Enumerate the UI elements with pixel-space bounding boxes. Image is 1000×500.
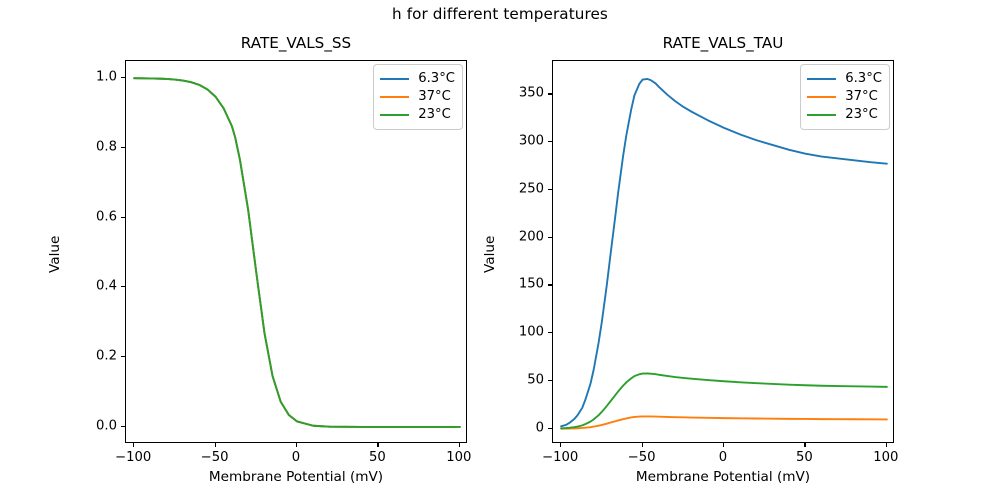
series-line [561, 79, 887, 426]
axes-left-ylabel: Value [47, 236, 63, 273]
legend-color-swatch [380, 96, 409, 98]
y-tick-label: 0.8 [96, 139, 117, 154]
y-tick-mark [121, 286, 125, 287]
y-tick-label: 350 [519, 86, 544, 101]
y-tick-label: 0.0 [96, 418, 117, 433]
axes-right-legend[interactable]: 6.3°C37°C23°C [800, 64, 890, 130]
y-tick-mark [548, 141, 552, 142]
x-tick-label: 100 [873, 450, 898, 465]
axes-left-xlabel: Membrane Potential (mV) [125, 469, 467, 485]
axes-left-title: RATE_VALS_SS [125, 34, 467, 52]
y-tick-label: 100 [519, 325, 544, 340]
y-tick-label: 200 [519, 229, 544, 244]
y-tick-label: 250 [519, 181, 544, 196]
series-line [561, 416, 887, 428]
axes-left-legend[interactable]: 6.3°C37°C23°C [373, 64, 463, 130]
legend-entry[interactable]: 23°C [380, 106, 455, 124]
x-tick-label: −50 [201, 450, 229, 465]
y-tick-label: 150 [519, 277, 544, 292]
x-tick-label: 100 [446, 450, 471, 465]
legend-color-swatch [380, 114, 409, 116]
axes-right-xlabel: Membrane Potential (mV) [552, 469, 894, 485]
x-tick-mark [723, 443, 724, 447]
x-tick-label: −50 [628, 450, 656, 465]
legend-label: 37°C [418, 90, 451, 104]
x-tick-label: 50 [369, 450, 386, 465]
x-tick-mark [215, 443, 216, 447]
legend-label: 6.3°C [418, 72, 455, 86]
y-tick-mark [548, 189, 552, 190]
x-tick-mark [459, 443, 460, 447]
x-tick-label: 0 [292, 450, 300, 465]
axes-rate-vals-ss: RATE_VALS_SS −100−500501000.00.20.40.60.… [125, 60, 467, 443]
legend-label: 37°C [845, 90, 878, 104]
x-tick-mark [133, 443, 134, 447]
matplotlib-figure: h for different temperatures RATE_VALS_S… [0, 0, 1000, 500]
y-tick-mark [548, 93, 552, 94]
legend-color-swatch [807, 78, 836, 80]
y-tick-mark [121, 217, 125, 218]
legend-label: 23°C [418, 108, 451, 122]
series-line [134, 78, 460, 427]
x-tick-label: 50 [796, 450, 813, 465]
x-tick-mark [560, 443, 561, 447]
x-tick-mark [642, 443, 643, 447]
x-tick-mark [886, 443, 887, 447]
y-tick-mark [121, 426, 125, 427]
legend-entry[interactable]: 37°C [807, 88, 882, 106]
y-tick-mark [548, 428, 552, 429]
y-tick-label: 0.4 [96, 279, 117, 294]
axes-rate-vals-tau: RATE_VALS_TAU −100−500501000501001502002… [552, 60, 894, 443]
legend-entry[interactable]: 23°C [807, 106, 882, 124]
series-line [134, 78, 460, 427]
legend-label: 6.3°C [845, 72, 882, 86]
axes-right-ylabel: Value [482, 236, 498, 273]
y-tick-mark [548, 380, 552, 381]
x-tick-mark [377, 443, 378, 447]
axes-right-title: RATE_VALS_TAU [552, 34, 894, 52]
legend-label: 23°C [845, 108, 878, 122]
x-tick-label: 0 [719, 450, 727, 465]
y-tick-mark [548, 332, 552, 333]
legend-color-swatch [807, 114, 836, 116]
legend-color-swatch [380, 78, 409, 80]
y-tick-mark [121, 147, 125, 148]
y-tick-mark [121, 77, 125, 78]
y-tick-label: 0.6 [96, 209, 117, 224]
legend-entry[interactable]: 37°C [380, 88, 455, 106]
y-tick-label: 300 [519, 134, 544, 149]
legend-entry[interactable]: 6.3°C [380, 70, 455, 88]
x-tick-mark [804, 443, 805, 447]
y-tick-label: 50 [527, 372, 544, 387]
x-tick-label: −100 [542, 450, 578, 465]
legend-entry[interactable]: 6.3°C [807, 70, 882, 88]
y-tick-label: 1.0 [96, 70, 117, 85]
legend-color-swatch [807, 96, 836, 98]
series-line [134, 78, 460, 427]
figure-suptitle: h for different temperatures [0, 5, 1000, 23]
y-tick-label: 0 [536, 420, 544, 435]
x-tick-mark [296, 443, 297, 447]
y-tick-mark [548, 237, 552, 238]
x-tick-label: −100 [115, 450, 151, 465]
y-tick-mark [548, 284, 552, 285]
y-tick-label: 0.2 [96, 349, 117, 364]
y-tick-mark [121, 356, 125, 357]
